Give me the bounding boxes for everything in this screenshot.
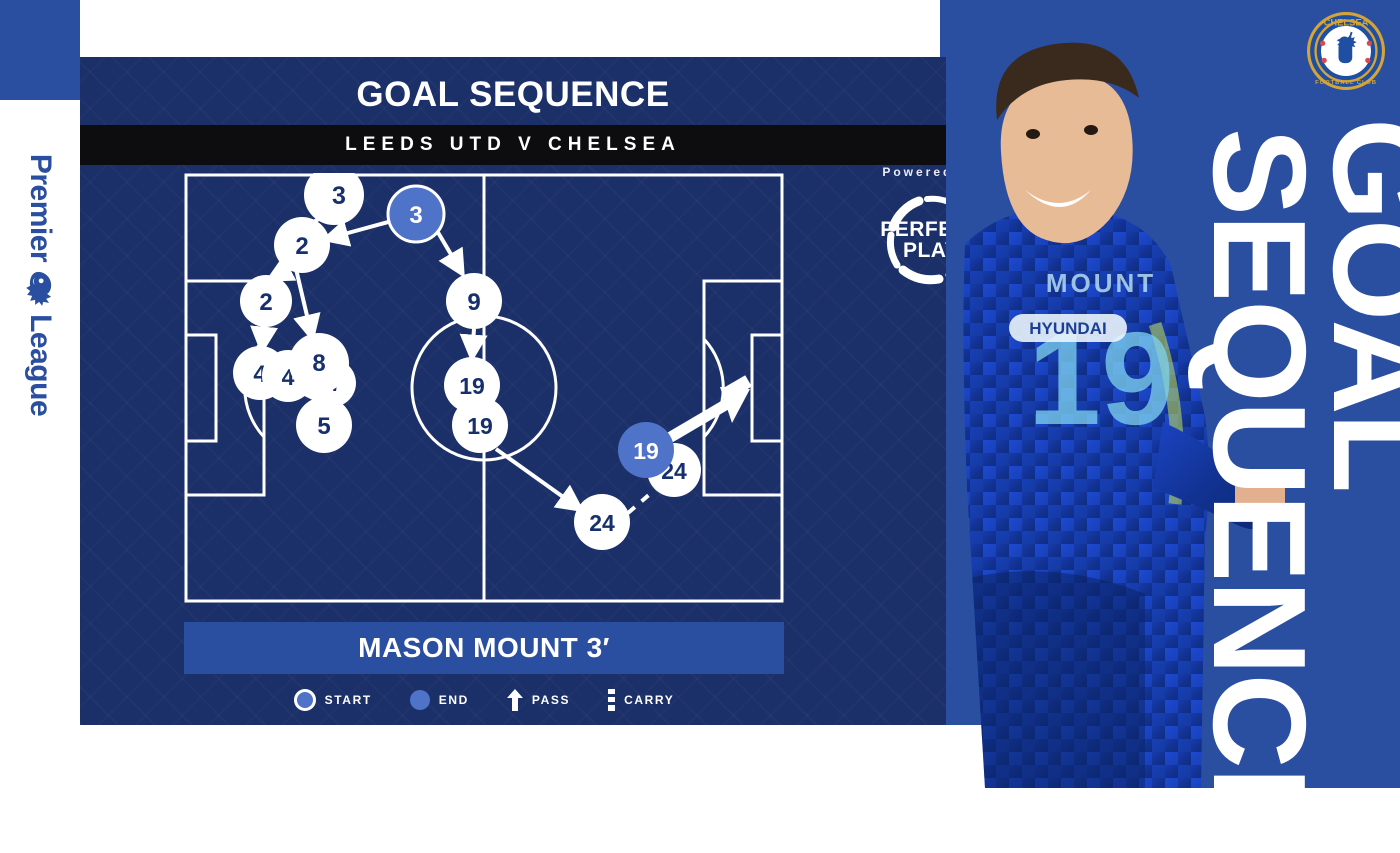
end-circle-icon (410, 690, 430, 710)
left-blue-tab (0, 0, 80, 100)
svg-text:2: 2 (295, 233, 308, 260)
legend-item-carry: CARRY (608, 689, 674, 711)
svg-text:2: 2 (259, 289, 272, 316)
svg-text:19: 19 (459, 373, 485, 399)
chelsea-crest-icon: CHELSEA FOOTBALL CLUB (1307, 12, 1385, 90)
legend-label-start: START (325, 693, 372, 707)
node-2a[interactable]: 2 (240, 275, 292, 327)
scorer-label: MASON MOUNT 3′ (358, 632, 610, 664)
premier-league-lion-icon (22, 268, 58, 308)
svg-text:8: 8 (312, 350, 325, 377)
legend-item-pass: PASS (507, 689, 570, 711)
node-3-white[interactable]: 3 (304, 173, 364, 225)
node-9[interactable]: 9 (446, 273, 502, 329)
svg-text:19: 19 (467, 413, 493, 439)
fixture-bar: LEEDS UTD V CHELSEA (80, 125, 946, 165)
svg-text:19: 19 (633, 438, 659, 464)
legend-label-carry: CARRY (624, 693, 674, 707)
svg-text:3: 3 (409, 202, 422, 229)
scorer-banner: MASON MOUNT 3′ (184, 622, 784, 674)
node-24a[interactable]: 24 (574, 494, 630, 550)
fixture-label: LEEDS UTD V CHELSEA (80, 125, 946, 165)
svg-text:3: 3 (332, 182, 346, 210)
sequence-nodes: 4 4 7 8 5 2 2 3 9 19 19 24 24 3 19 (233, 173, 701, 550)
svg-text:24: 24 (589, 510, 615, 536)
svg-text:9: 9 (467, 289, 480, 316)
pl-word-league: League (23, 314, 57, 416)
node-start-3[interactable]: 3 (388, 186, 444, 242)
legend-item-start: START (294, 689, 372, 711)
legend-item-end: END (410, 690, 469, 710)
page-title: GOAL SEQUENCE (80, 75, 946, 115)
player-hand (1235, 476, 1285, 514)
pl-word-premier: Premier (23, 154, 57, 262)
shirt-sponsor: HYUNDAI (1009, 314, 1127, 342)
node-5[interactable]: 5 (296, 397, 352, 453)
shirt-name: MOUNT (1046, 268, 1156, 298)
pass-arrow-icon (507, 689, 523, 711)
start-circle-icon (294, 689, 316, 711)
player-photo: 19 MOUNT HYUNDAI (905, 24, 1285, 788)
crest-club-name: CHELSEA (1324, 17, 1369, 27)
crest-club-subtitle: FOOTBALL CLUB (1315, 80, 1377, 86)
node-2b[interactable]: 2 (274, 217, 330, 273)
premier-league-logo: Premier League (22, 154, 58, 416)
premier-league-rail: Premier League (0, 100, 80, 470)
svg-text:5: 5 (317, 413, 330, 440)
legend: START END PASS CARRY (184, 680, 784, 720)
player-head (996, 43, 1139, 243)
svg-text:HYUNDAI: HYUNDAI (1029, 319, 1106, 338)
pitch-diagram: 4 4 7 8 5 2 2 3 9 19 19 24 24 3 19 (184, 173, 784, 603)
poster-root: Premier League (0, 0, 1400, 788)
node-end-19[interactable]: 19 (618, 422, 674, 478)
node-19b[interactable]: 19 (452, 397, 508, 453)
carry-dashed-icon (608, 689, 615, 711)
legend-label-pass: PASS (532, 693, 570, 707)
node-8[interactable]: 8 (289, 333, 349, 393)
legend-label-end: END (439, 693, 469, 707)
goal-sequence-card: GOAL SEQUENCE LEEDS UTD V CHELSEA Powere… (80, 57, 946, 725)
